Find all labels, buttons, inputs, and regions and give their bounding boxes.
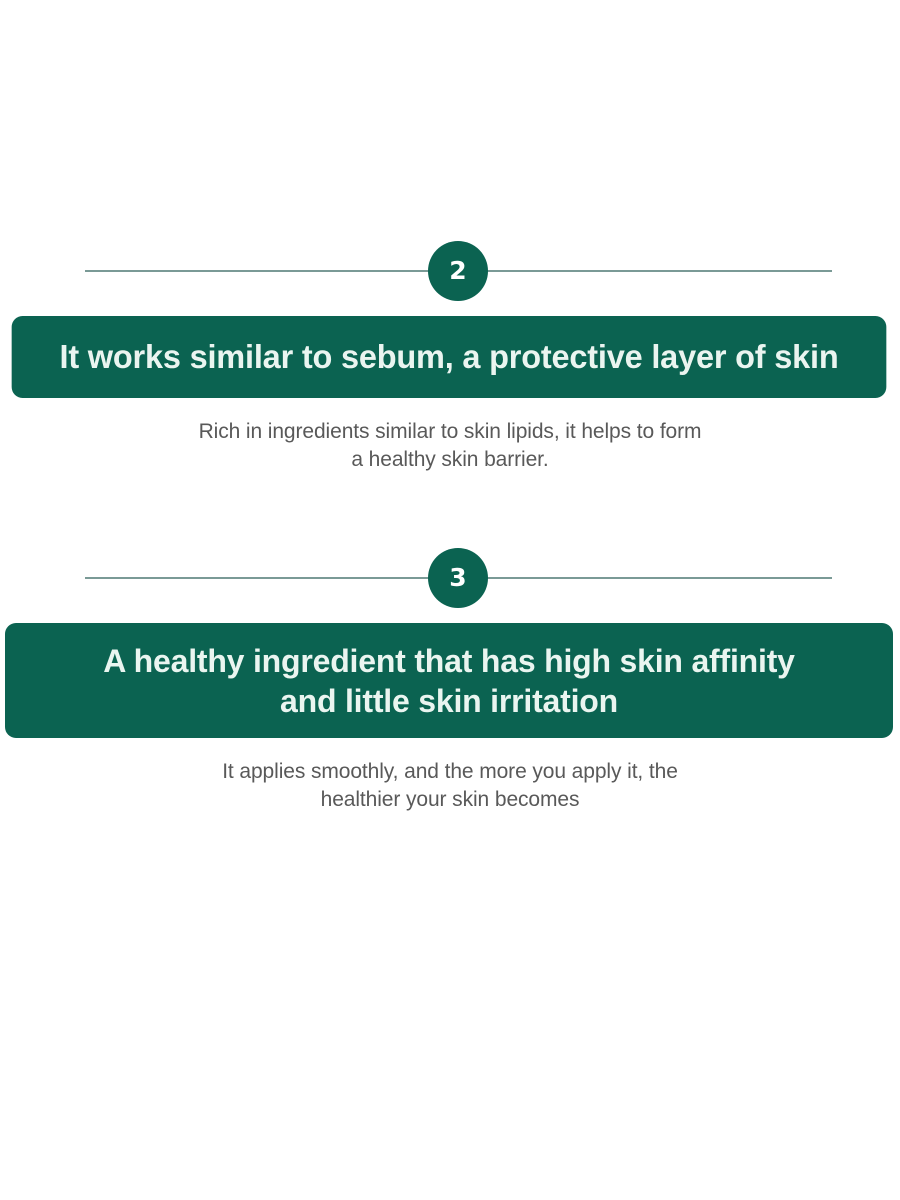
step-number-badge-3: 3 <box>428 548 488 608</box>
benefit-section-2: 2 It works similar to sebum, a protectiv… <box>0 241 900 474</box>
headline-text: It works similar to sebum, a protective … <box>56 338 843 376</box>
headline-banner-3: A healthy ingredient that has high skin … <box>5 623 893 738</box>
step-divider-2: 2 <box>0 241 900 301</box>
headline-line: A healthy ingredient that has high skin … <box>103 643 795 679</box>
step-divider-3: 3 <box>0 548 900 608</box>
benefit-section-3: 3 A healthy ingredient that has high ski… <box>0 548 900 814</box>
caption-line: a healthy skin barrier. <box>0 446 900 474</box>
caption-line: It applies smoothly, and the more you ap… <box>0 758 900 786</box>
headline-banner-2: It works similar to sebum, a protective … <box>12 316 887 398</box>
caption-block-3: It applies smoothly, and the more you ap… <box>0 758 900 814</box>
caption-block-2: Rich in ingredients similar to skin lipi… <box>0 418 900 474</box>
caption-line: Rich in ingredients similar to skin lipi… <box>0 418 900 446</box>
caption-line: healthier your skin becomes <box>0 786 900 814</box>
product-benefits-page: 2 It works similar to sebum, a protectiv… <box>0 0 900 1200</box>
step-number-badge-2: 2 <box>428 241 488 301</box>
headline-line: and little skin irritation <box>280 683 618 719</box>
headline-text: A healthy ingredient that has high skin … <box>77 641 821 721</box>
